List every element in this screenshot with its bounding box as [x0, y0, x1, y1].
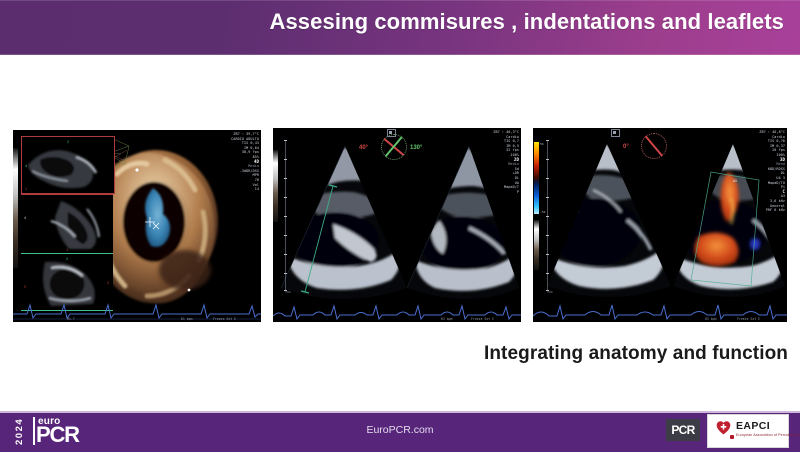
- grayscale-colorbar: [273, 150, 278, 222]
- grayscale-colorbar: [13, 148, 18, 268]
- ecg-caption-center: 61 bpm: [181, 317, 193, 321]
- mpr-green-image: 4 1: [21, 195, 113, 253]
- angle-label-primary: 40°: [359, 145, 368, 151]
- ecg-caption-right: Freeze Set E: [737, 317, 760, 321]
- svg-text:2: 2: [66, 258, 68, 262]
- param-line: ZB7 : 40,8°C: [759, 130, 785, 135]
- probe-angle-dial[interactable]: [641, 133, 667, 159]
- param-line: ZB7 : 40,3°C: [493, 130, 519, 135]
- echo-panel-3d-volume[interactable]: 2 4 1 4 1 2 5: [13, 130, 261, 322]
- eapci-sub-mark: [730, 435, 734, 439]
- ecg-caption-right: Freeze Set E: [213, 317, 236, 321]
- colorbar-top-value: 56: [540, 142, 544, 146]
- param-line: P: [493, 190, 519, 195]
- svg-text:1: 1: [25, 188, 27, 192]
- machine-params-3d: ZB7 : 39,7°C CARDIO ADULTO TIS 0,43 IM 0…: [231, 132, 259, 192]
- svg-text:5: 5: [24, 286, 26, 290]
- grayscale-colorbar: [534, 220, 539, 270]
- logo-pcr-text: PCR: [36, 424, 79, 446]
- depth-label: 7cm: [547, 290, 552, 294]
- depth-ruler: [285, 140, 286, 290]
- probe-angle-dial[interactable]: [381, 134, 407, 160]
- ecg-caption-left: M1.7: [67, 317, 75, 321]
- depth-ruler: [547, 140, 548, 290]
- ecg-caption-center: 65 bpm: [705, 317, 717, 321]
- machine-params-doppler: ZB7 : 40,8°C Cardio TIS 0,76 IM 0,37 20 …: [759, 130, 785, 213]
- echo-panel-color-doppler[interactable]: A3 0° 56 -56 7cm ZB7 : 40,8°C Cardio TIS…: [533, 128, 787, 322]
- svg-text:1: 1: [66, 249, 68, 253]
- svg-text:2: 2: [67, 141, 69, 145]
- pcr-badge[interactable]: PCR: [666, 419, 700, 441]
- slide-title-bar: Assesing commisures , indentations and l…: [0, 0, 800, 55]
- svg-text:3: 3: [107, 282, 109, 286]
- doppler-colorbar: [534, 142, 539, 214]
- param-line: PRF 6 kHz: [759, 208, 785, 213]
- depth-label: 7cm: [285, 290, 290, 294]
- angle-label-secondary: 130°: [410, 145, 422, 151]
- heart-icon: [715, 420, 732, 436]
- echo-panel-biplane[interactable]: 40° 130° 7cm ZB7 : 40,3°C Cardio TIS 0,7…: [273, 128, 521, 322]
- param-line: ZB7 : 39,7°C: [231, 132, 259, 137]
- ecg-caption-right: Freeze Set E: [471, 317, 494, 321]
- mpr-view-green-plane[interactable]: 4 1: [21, 194, 113, 254]
- eapci-subtitle: European Association of Percutaneous Car…: [736, 433, 800, 437]
- mpr-red-image: 2 4 1: [22, 137, 114, 193]
- angle-label-primary: 0°: [623, 144, 629, 150]
- europcr-logo[interactable]: 2024 euro PCR: [14, 416, 122, 446]
- colorbar-bottom-value: -56: [540, 210, 545, 214]
- eapci-badge[interactable]: EAPCI European Association of Percutaneo…: [707, 414, 789, 448]
- probe-orientation-icon: [611, 129, 620, 137]
- probe-orientation-icon: [387, 129, 396, 137]
- ecg-caption-center: 63 bpm: [441, 317, 453, 321]
- eapci-name: EAPCI: [736, 420, 770, 432]
- logo-divider: [33, 417, 35, 445]
- param-line: 14: [231, 187, 259, 192]
- svg-text:4: 4: [25, 165, 27, 169]
- page-title: Assesing commisures , indentations and l…: [269, 9, 784, 35]
- machine-params-biplane: ZB7 : 40,3°C Cardio TIS 0,7 IM 0,5 32 fp…: [493, 130, 519, 194]
- svg-text:4: 4: [24, 217, 26, 221]
- svg-text:A3: A3: [733, 179, 737, 183]
- slide-subtitle: Integrating anatomy and function: [484, 343, 788, 365]
- mpr-view-red-plane[interactable]: 2 4 1: [21, 136, 115, 194]
